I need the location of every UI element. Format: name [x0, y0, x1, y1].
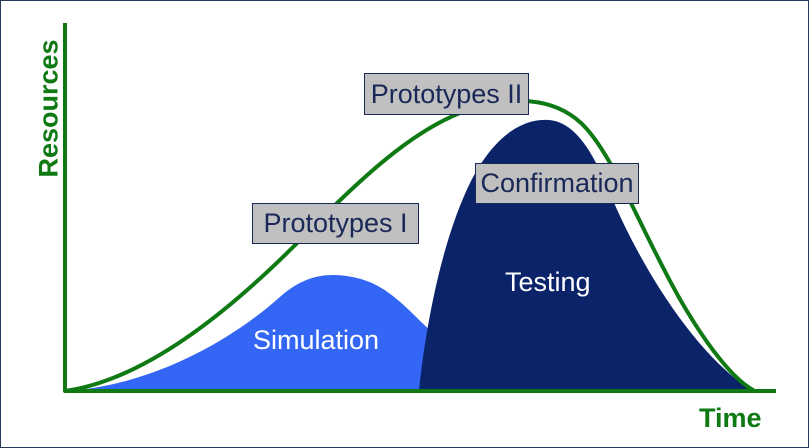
- area-label-simulation: Simulation: [253, 327, 379, 354]
- y-axis-label: Resources: [36, 34, 63, 184]
- callout-prototypes-1: Prototypes I: [252, 203, 419, 244]
- callout-prototypes-2: Prototypes II: [364, 73, 529, 115]
- area-label-testing: Testing: [505, 269, 591, 296]
- area-testing: [419, 120, 751, 391]
- callout-confirmation: Confirmation: [475, 163, 639, 204]
- x-axis-label: Time: [699, 405, 762, 432]
- diagram-canvas: Resources Time Simulation Testing Protot…: [0, 0, 809, 448]
